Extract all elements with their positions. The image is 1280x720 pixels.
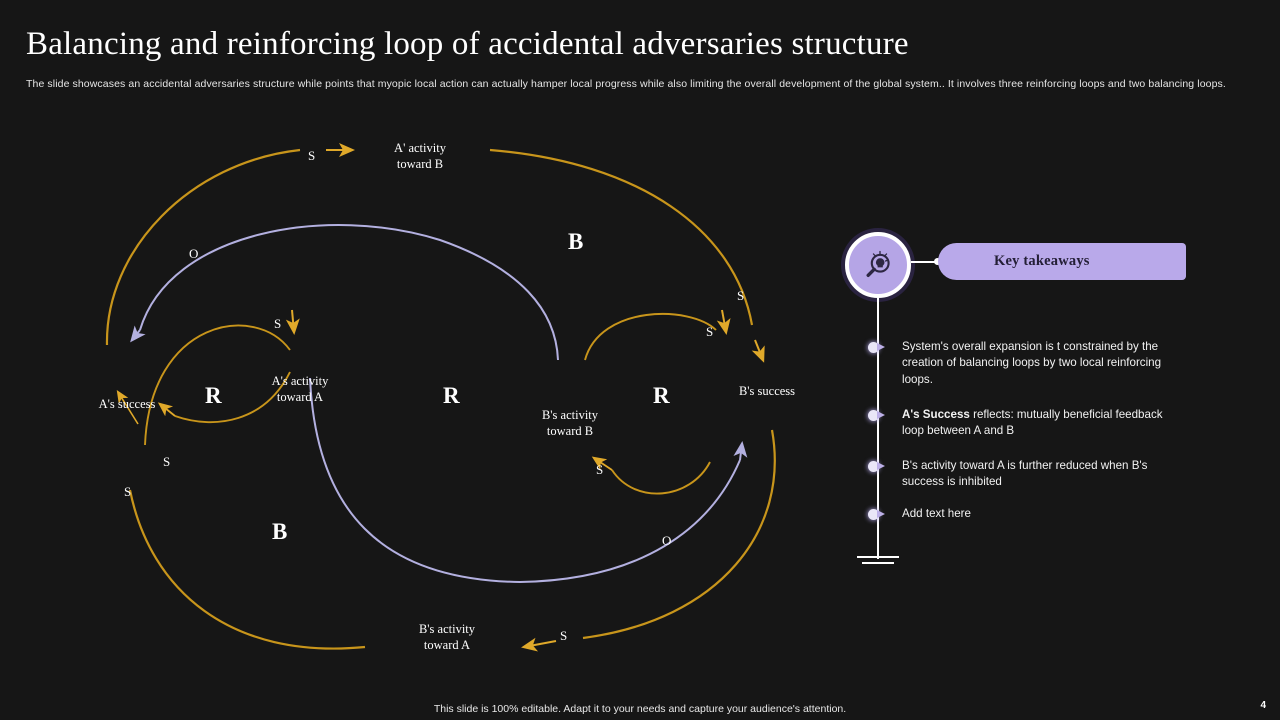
bullet-marker-icon [868,461,888,473]
bullet-marker-icon [868,509,888,521]
loop-marker-r-center: R [443,382,460,411]
polarity-right-lower-s: S [596,462,603,478]
list-item[interactable]: B's activity toward A is further reduced… [868,458,1164,491]
node-label-line1: B's activity [419,622,475,636]
timeline-base-bar-lower [862,562,894,564]
loop-marker-r-right: R [653,382,670,411]
polarity-top-left-s: S [308,148,315,164]
magnifier-lightbulb-icon [845,232,911,298]
page-title: Balancing and reinforcing loop of accide… [26,26,1206,63]
node-label-line1: A's activity [272,374,329,388]
node-label-line1: A' activity [394,141,446,155]
causal-loop-diagram: A' activity toward B A's success A's act… [0,110,830,680]
polarity-bottom-s: S [560,628,567,644]
node-label-line2: toward B [547,424,593,438]
loop-marker-b-bottom: B [272,518,287,547]
key-takeaways-panel: Key takeaways System's overall expansion… [840,225,1260,575]
loop-marker-r-left: R [205,382,222,411]
list-item[interactable]: System's overall expansion is t constrai… [868,339,1164,388]
node-a-activity-toward-a: A's activity toward A [263,374,337,405]
diagram-svg [0,110,830,680]
polarity-top-right-s-outer: S [737,288,744,304]
key-takeaways-banner[interactable]: Key takeaways [938,243,1186,280]
list-item[interactable]: Add text here [868,506,1164,522]
loop-marker-b-top: B [568,228,583,257]
bullet-marker-icon [868,410,888,422]
node-label-line2: toward B [397,157,443,171]
list-item[interactable]: A's Success reflects: mutually beneficia… [868,407,1164,440]
polarity-left-lower-s-outer: S [124,484,131,500]
node-a-success: A's success [90,397,164,413]
polarity-left-lower-s-inner: S [163,454,170,470]
page-number: 4 [1260,700,1266,711]
node-label-line2: toward A [424,638,470,652]
timeline-base-bar-upper [857,556,899,558]
arc-group-orange-inner-right [585,310,726,360]
node-label-line1: A's success [99,397,156,411]
arc-group-lower-left [118,372,365,649]
polarity-inner-left-s: S [274,316,281,332]
list-item-text: B's activity toward A is further reduced… [902,458,1164,491]
polarity-bottom-right-o: O [662,533,671,549]
node-b-activity-toward-b: B's activity toward B [533,408,607,439]
magnifier-lightbulb-glyph [861,248,895,282]
list-item-text: Add text here [902,506,1164,522]
list-item-text: System's overall expansion is t constrai… [902,339,1164,388]
list-item-emphasis: A's Success [902,408,970,421]
footer-note: This slide is 100% editable. Adapt it to… [0,703,1280,715]
node-b-success: B's success [730,384,804,400]
key-takeaways-label: Key takeaways [994,253,1090,270]
bullet-marker-icon [868,342,888,354]
list-item-text: A's Success reflects: mutually beneficia… [902,407,1164,440]
node-b-activity-toward-a: B's activity toward A [410,622,484,653]
node-a-activity-toward-b: A' activity toward B [385,141,455,172]
page-subtitle: The slide showcases an accidental advers… [26,78,1246,90]
polarity-top-left-o: O [189,246,198,262]
polarity-top-right-s-inner: S [706,324,713,340]
slide-root: Balancing and reinforcing loop of accide… [0,0,1280,720]
node-label-line2: toward A [277,390,323,404]
node-label-line1: B's success [739,384,795,398]
node-label-line1: B's activity [542,408,598,422]
